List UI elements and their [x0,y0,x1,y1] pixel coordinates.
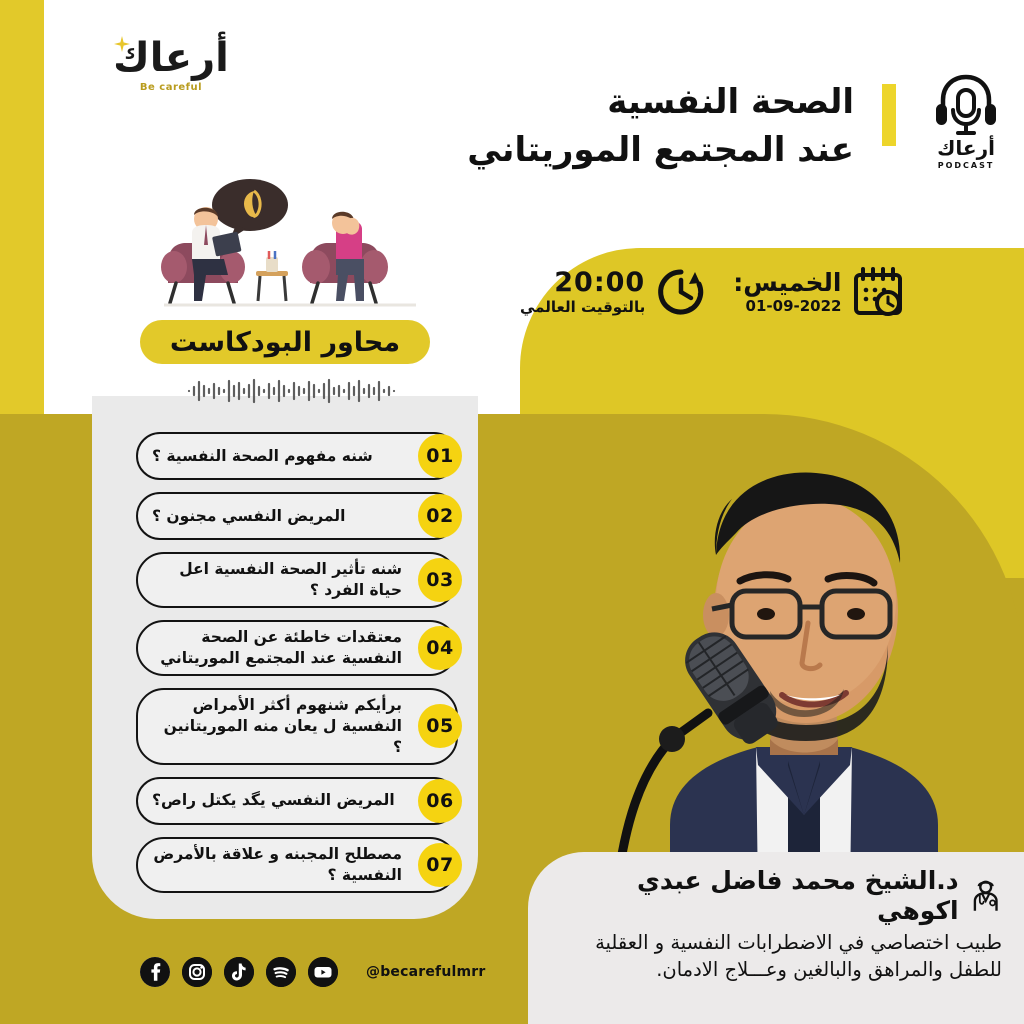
guest-name: د.الشيخ محمد فاضل عبدي اكوهي [554,866,959,926]
guest-description: طبيب اختصاصي في الاضطرابات النفسية و الع… [554,930,1002,984]
date-value: 01-09-2022 [733,297,841,315]
topic-item[interactable]: المريض النفسي مجنون ؟ 02 [136,492,458,540]
topic-number: 05 [418,704,462,748]
topic-label: معتقدات خاطئة عن الصحة النفسية عند المجت… [152,627,402,669]
date-group: الخميس: 01-09-2022 [733,266,903,318]
therapy-session-illustration [150,175,430,315]
tiktok-icon[interactable] [224,957,254,987]
topic-item[interactable]: المريض النفسي يگد يكتل راص؟ 06 [136,777,458,825]
podcast-logo: أرعاك PODCAST [920,74,1012,186]
brand-logo: أرعاك Be careful [86,28,256,102]
calendar-icon [852,266,904,318]
podcast-poster: أرعاك Be careful الصحة النفسية عند المجت… [0,0,1024,1024]
facebook-icon[interactable] [140,957,170,987]
social-handle: @becarefulmrr [366,964,486,980]
podcast-logo-word: أرعاك [937,138,995,158]
timezone-label: بالتوقيت العالمي [520,298,645,316]
doctor-icon [969,879,1002,913]
headphones-microphone-icon [933,74,999,136]
topics-badge: محاور البودكاست [140,320,430,364]
guest-portrait-photo [520,395,1024,895]
topic-number: 01 [418,434,462,478]
brand-logo-tagline: Be careful [140,82,202,93]
topic-label: شنه مفهوم الصحة النفسية ؟ [152,446,373,467]
topic-number: 07 [418,843,462,887]
time-group: 20:00 بالتوقيت العالمي [520,266,707,318]
title-line-2: عند المجتمع الموريتاني [374,126,854,174]
topic-number: 06 [418,779,462,823]
youtube-icon[interactable] [308,957,338,987]
waveform-icon [185,378,400,404]
topic-item[interactable]: برأيكم شنهوم أكثر الأمراض النفسية ل يعان… [136,688,458,765]
topic-item[interactable]: مصطلح المجبنه و علاقة بالأمرض النفسية ؟ … [136,837,458,893]
day-label: الخميس: [733,269,841,297]
time-text: 20:00 بالتوقيت العالمي [520,268,645,316]
schedule-strip: الخميس: 01-09-2022 20:00 بالتوقيت العالم… [520,248,1024,336]
topics-list: شنه مفهوم الصحة النفسية ؟ 01 المريض النف… [136,432,466,893]
brand-logo-word: أرعاك [113,38,229,78]
date-text: الخميس: 01-09-2022 [733,269,841,315]
social-footer: @becarefulmrr [140,952,460,992]
topic-label: مصطلح المجبنه و علاقة بالأمرض النفسية ؟ [152,844,402,886]
podcast-logo-label: PODCAST [938,161,995,170]
time-value: 20:00 [520,268,645,298]
topic-label: المريض النفسي مجنون ؟ [152,506,345,527]
instagram-icon[interactable] [182,957,212,987]
guest-info-card: د.الشيخ محمد فاضل عبدي اكوهي طبيب اختصاص… [528,852,1024,1024]
topic-label: المريض النفسي يگد يكتل راص؟ [152,790,395,811]
topic-item[interactable]: معتقدات خاطئة عن الصحة النفسية عند المجت… [136,620,458,676]
topic-number: 02 [418,494,462,538]
topic-item[interactable]: شنه تأثير الصحة النفسية اعل حياة الفرد ؟… [136,552,458,608]
topic-label: برأيكم شنهوم أكثر الأمراض النفسية ل يعان… [152,695,402,758]
page-title: الصحة النفسية عند المجتمع الموريتاني [374,78,854,175]
left-yellow-bar [0,0,44,414]
topic-item[interactable]: شنه مفهوم الصحة النفسية ؟ 01 [136,432,458,480]
topic-number: 04 [418,626,462,670]
title-accent-bar [882,84,896,146]
clock-icon [655,266,707,318]
sparkle-icon [114,36,130,52]
topic-number: 03 [418,558,462,602]
spotify-icon[interactable] [266,957,296,987]
title-line-1: الصحة النفسية [374,78,854,126]
topic-label: شنه تأثير الصحة النفسية اعل حياة الفرد ؟ [152,559,402,601]
guest-name-row: د.الشيخ محمد فاضل عبدي اكوهي [554,866,1002,926]
